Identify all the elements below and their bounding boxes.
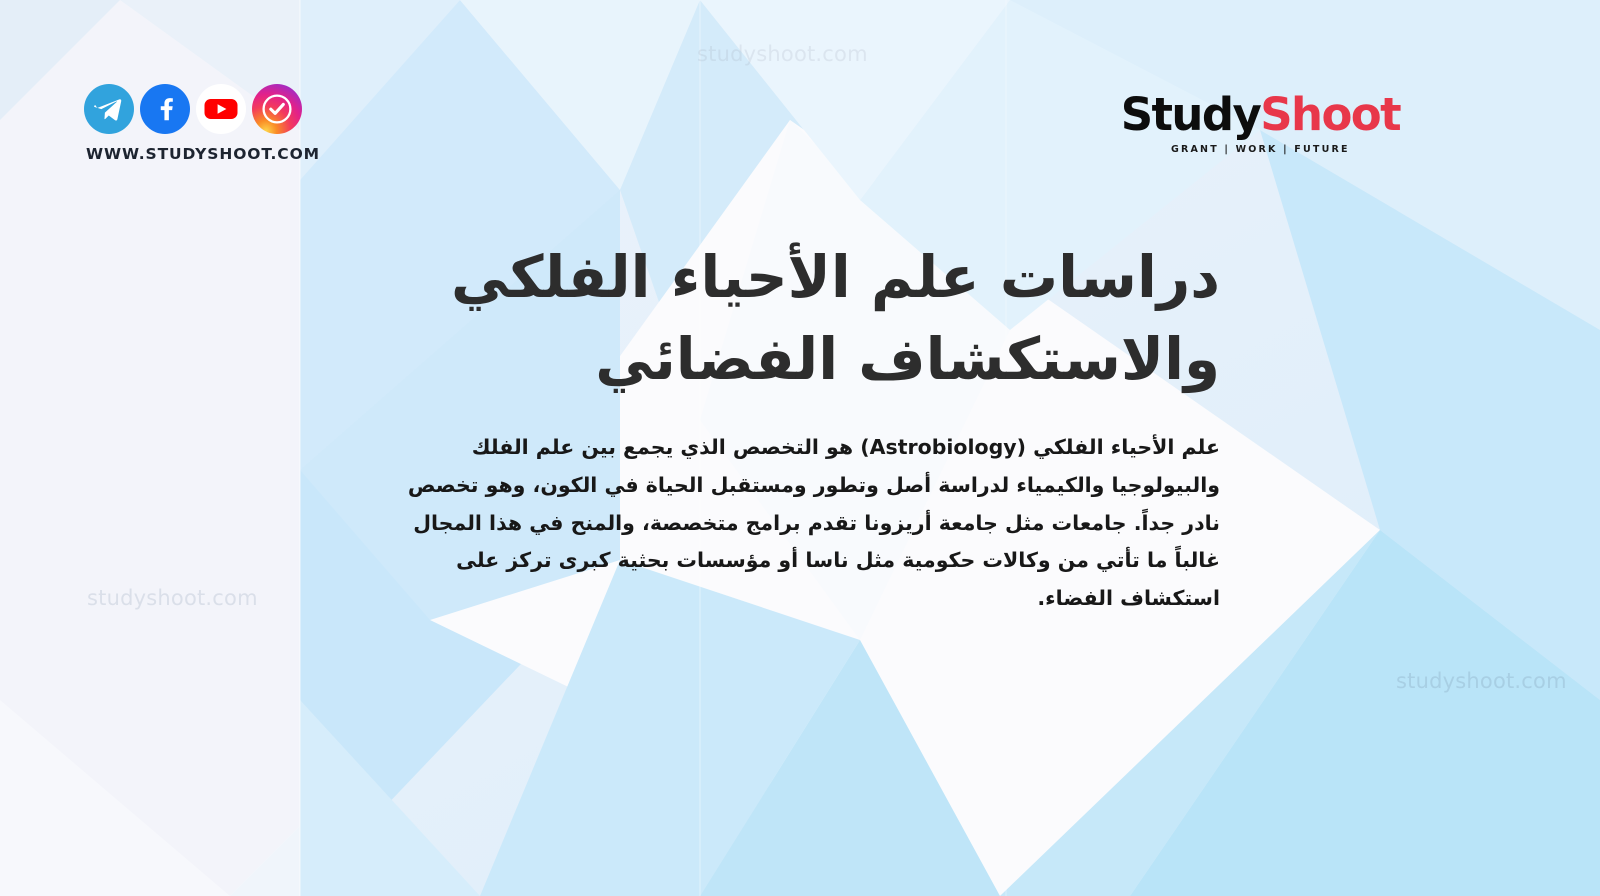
brand-tagline: GRANT | WORK | FUTURE — [1121, 144, 1400, 155]
site-url-label: WWW.STUDYSHOOT.COM — [84, 145, 320, 163]
facebook-icon[interactable] — [140, 84, 190, 134]
instagram-check-icon[interactable] — [252, 84, 302, 134]
telegram-icon[interactable] — [84, 84, 134, 134]
poster-canvas: studyshoot.com studyshoot.com studyshoot… — [0, 0, 1600, 896]
content-column: دراسات علم الأحياء الفلكي والاستكشاف الف… — [380, 236, 1220, 618]
social-icon-row — [84, 84, 320, 134]
watermark-right: studyshoot.com — [1396, 669, 1567, 693]
brand-logo: StudyShoot GRANT | WORK | FUTURE — [1121, 92, 1400, 155]
social-block: WWW.STUDYSHOOT.COM — [84, 84, 320, 163]
body-paragraph: علم الأحياء الفلكي (Astrobiology) هو الت… — [380, 429, 1220, 619]
brand-word-study: Study — [1121, 88, 1261, 141]
watermark-top: studyshoot.com — [697, 42, 868, 66]
youtube-icon[interactable] — [196, 84, 246, 134]
brand-word-shoot: Shoot — [1260, 88, 1400, 141]
page-title: دراسات علم الأحياء الفلكي والاستكشاف الف… — [380, 236, 1220, 401]
brand-wordmark: StudyShoot — [1121, 92, 1400, 137]
watermark-left: studyshoot.com — [87, 586, 258, 610]
